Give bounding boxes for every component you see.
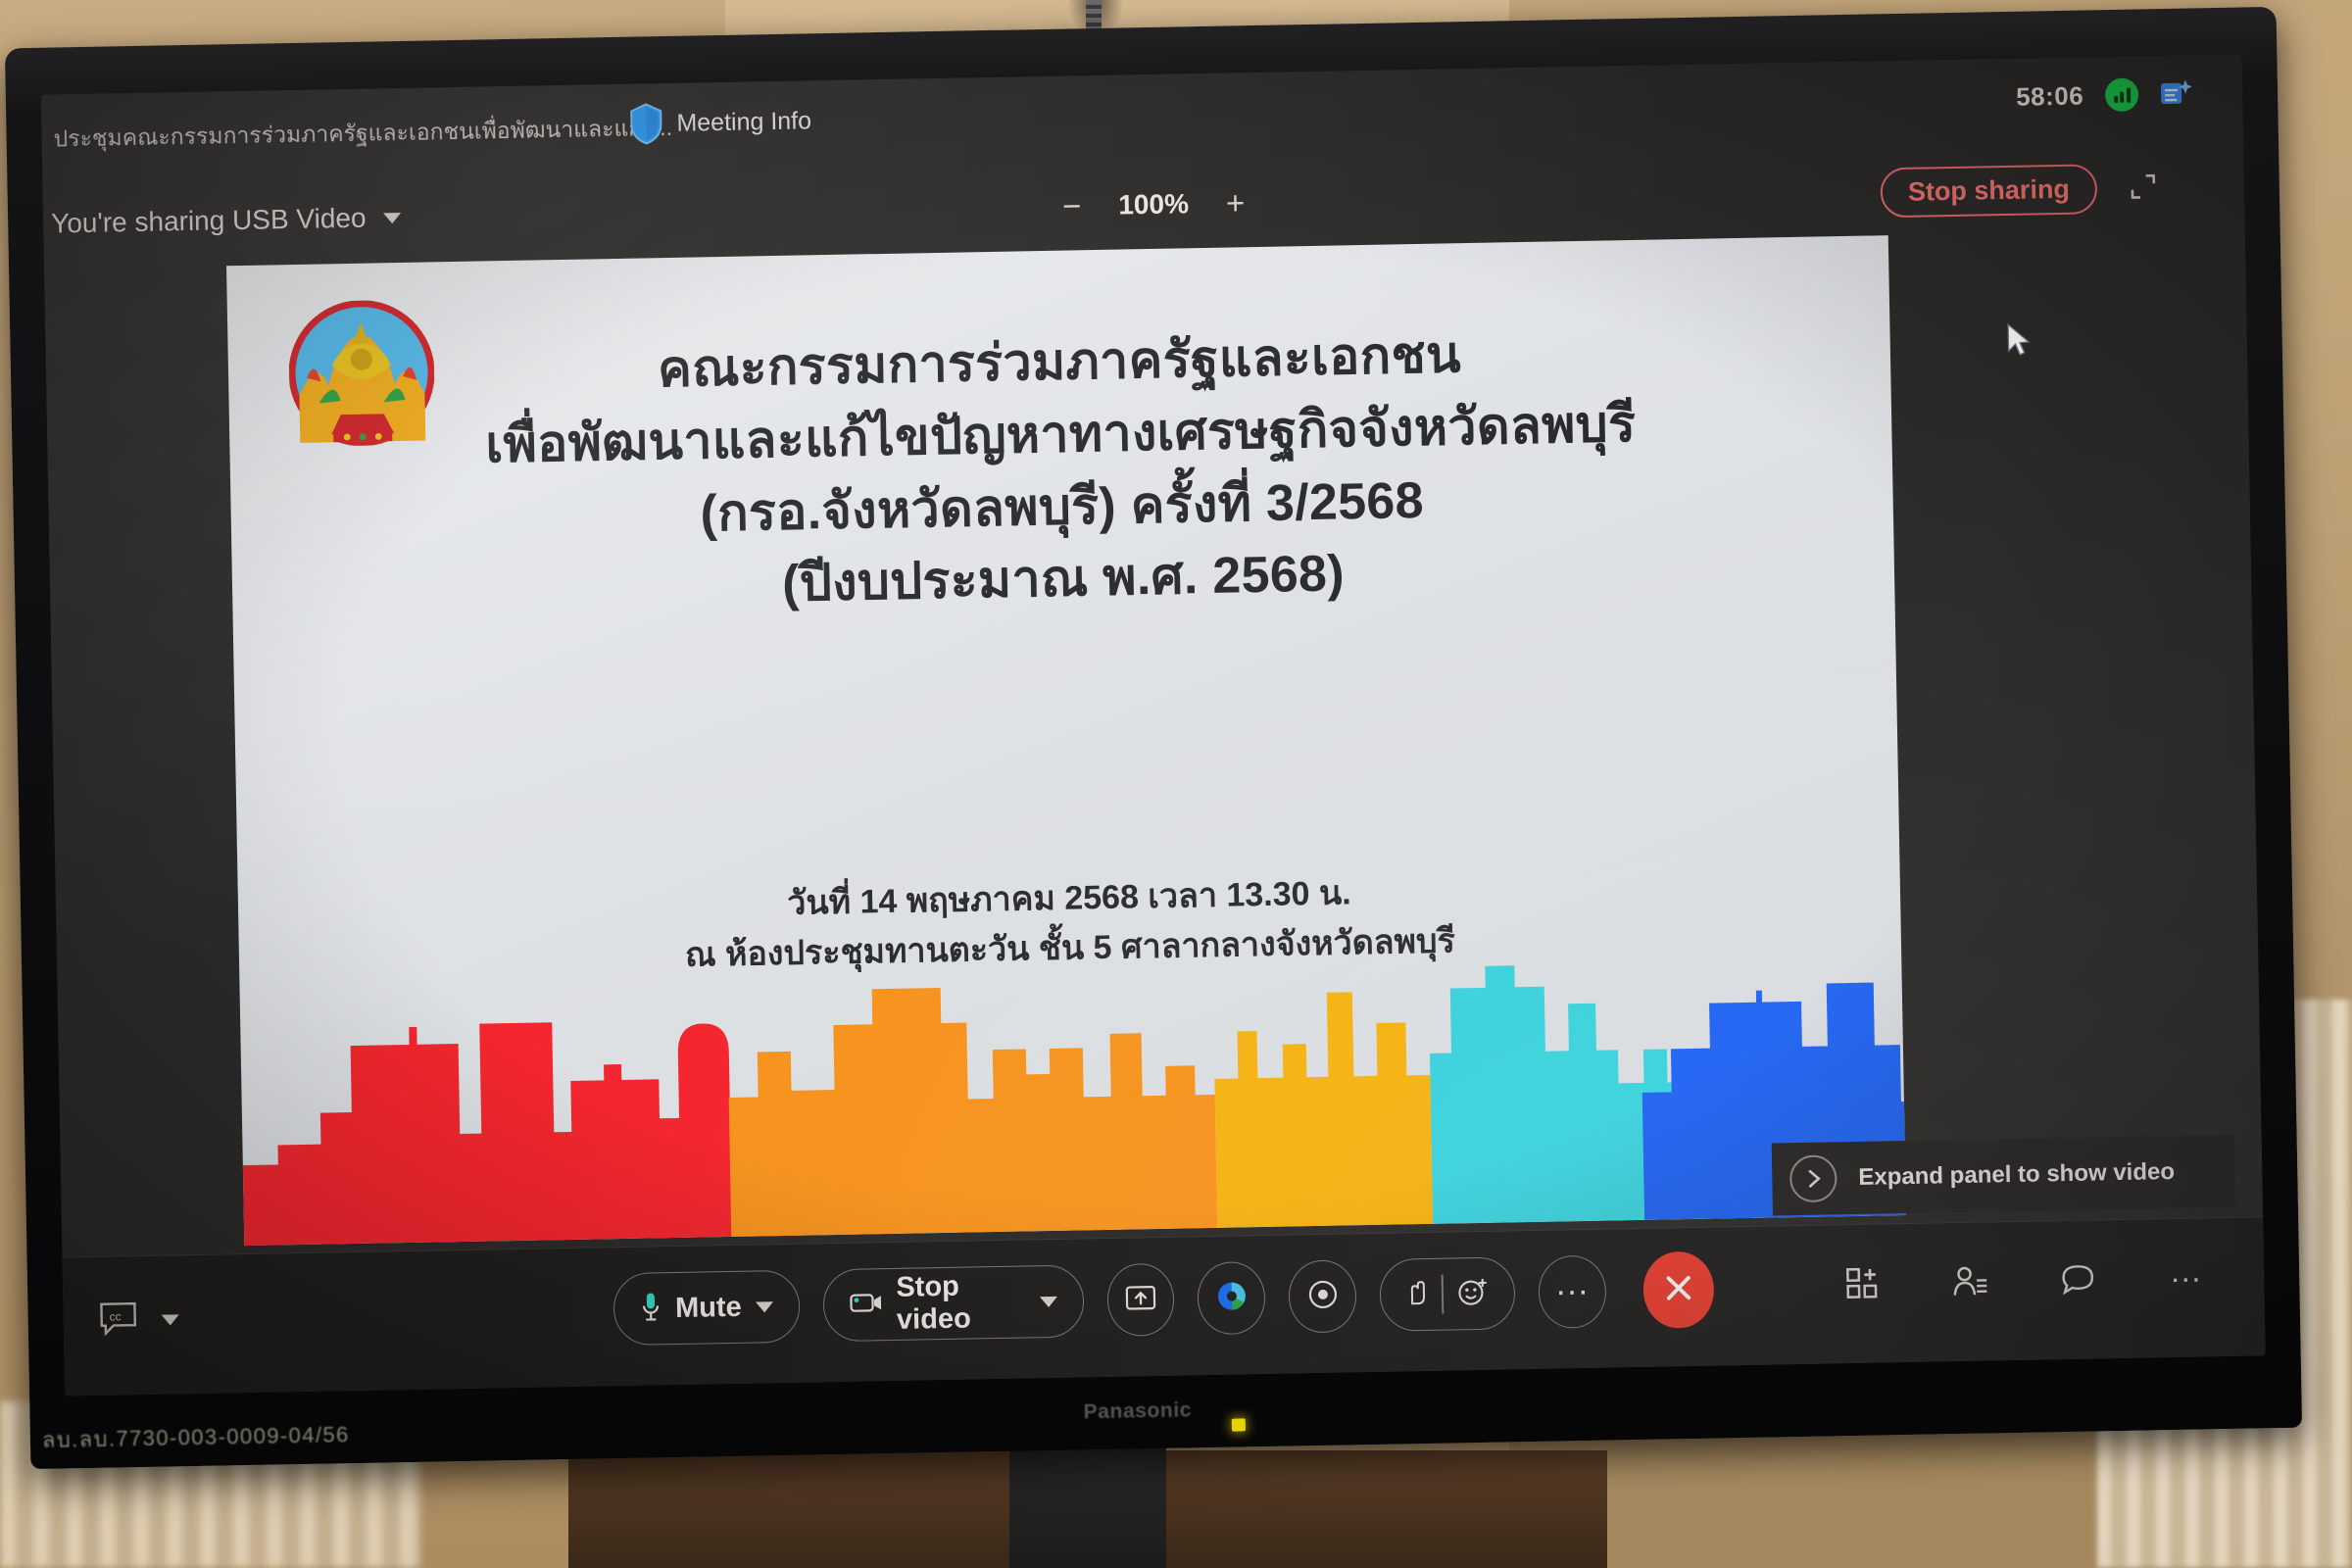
raise-hand-icon[interactable] — [1406, 1277, 1429, 1311]
chevron-down-icon — [383, 212, 401, 222]
zoom-in-button[interactable]: + — [1226, 186, 1246, 219]
mouse-cursor — [2005, 323, 2032, 364]
svg-text:cc: cc — [110, 1309, 122, 1323]
zoom-out-button[interactable]: − — [1062, 189, 1082, 221]
more-options-icon: ··· — [1555, 1285, 1589, 1298]
divider — [1442, 1275, 1444, 1314]
microphone-icon — [640, 1291, 662, 1327]
meeting-title: ประชุมคณะกรรมการร่วมภาครัฐและเอกชนเพื่อพ… — [53, 111, 672, 158]
status-group: 58:06 — [2016, 76, 2192, 113]
record-button[interactable] — [1289, 1259, 1357, 1333]
mute-label: Mute — [675, 1291, 742, 1324]
tv-brand-logo: Panasonic — [1083, 1398, 1192, 1424]
meeting-app-screen: ประชุมคณะกรรมการร่วมภาครัฐและเอกชนเพื่อพ… — [41, 55, 2266, 1396]
right-controls: ··· — [1840, 1255, 2208, 1305]
copilot-button[interactable] — [1198, 1261, 1266, 1335]
closed-captions-icon: cc — [98, 1301, 138, 1341]
chevron-right-icon[interactable] — [1789, 1154, 1837, 1202]
network-signal-icon[interactable] — [2105, 77, 2139, 112]
meeting-timer: 58:06 — [2016, 80, 2084, 112]
city-skyline-graphic — [239, 951, 1906, 1246]
slide-title-block: คณะกรรมการร่วมภาครัฐและเอกชน เพื่อพัฒนาแ… — [227, 312, 1894, 631]
participants-icon[interactable] — [1948, 1259, 1992, 1303]
leave-meeting-button[interactable] — [1642, 1251, 1715, 1329]
stop-sharing-button[interactable]: Stop sharing — [1880, 164, 2097, 218]
record-icon — [1306, 1278, 1339, 1315]
copilot-icon — [1215, 1279, 1249, 1318]
zoom-level-label: 100% — [1118, 188, 1189, 220]
reactions-icon[interactable] — [1456, 1276, 1489, 1311]
asset-tag-label: ลบ.ลบ.7730-003-0009-04/56 — [42, 1417, 350, 1457]
chevron-down-icon[interactable] — [756, 1301, 773, 1312]
mute-button[interactable]: Mute — [612, 1270, 800, 1346]
center-controls: Mute Stop video — [612, 1251, 1714, 1348]
share-screen-icon — [1125, 1284, 1157, 1317]
chat-bubble-icon[interactable] — [2056, 1257, 2100, 1301]
share-screen-button[interactable] — [1106, 1263, 1175, 1337]
stop-video-label: Stop video — [896, 1269, 1026, 1336]
reactions-group[interactable] — [1379, 1256, 1515, 1332]
shield-icon — [629, 103, 663, 145]
apps-grid-icon[interactable] — [1840, 1261, 1885, 1305]
meeting-info-button[interactable]: Meeting Info — [629, 100, 811, 144]
collapse-icon[interactable] — [2127, 171, 2161, 202]
zoom-controls: − 100% + — [1062, 186, 1246, 221]
stop-video-button[interactable]: Stop video — [822, 1264, 1084, 1342]
expand-panel-label: Expand panel to show video — [1858, 1158, 2175, 1192]
chevron-down-icon — [162, 1314, 179, 1325]
camera-icon — [849, 1291, 883, 1320]
ai-notes-icon[interactable] — [2160, 78, 2192, 109]
more-options-icon[interactable]: ··· — [2164, 1255, 2208, 1299]
sharing-status-dropdown[interactable]: You're sharing USB Video — [51, 202, 402, 240]
power-led-indicator — [1232, 1418, 1246, 1431]
expand-panel-tooltip[interactable]: Expand panel to show video — [1772, 1135, 2235, 1216]
more-options-button[interactable]: ··· — [1538, 1255, 1606, 1329]
television: Panasonic ลบ.ลบ.7730-003-0009-04/56 ประช… — [5, 7, 2302, 1469]
close-icon — [1661, 1270, 1695, 1309]
sharing-status-label: You're sharing USB Video — [51, 203, 367, 240]
chevron-down-icon[interactable] — [1040, 1296, 1057, 1306]
meeting-info-label: Meeting Info — [676, 107, 811, 138]
closed-captions-button[interactable]: cc — [98, 1300, 179, 1340]
shared-slide[interactable]: คณะกรรมการร่วมภาครัฐและเอกชน เพื่อพัฒนาแ… — [226, 235, 1906, 1246]
